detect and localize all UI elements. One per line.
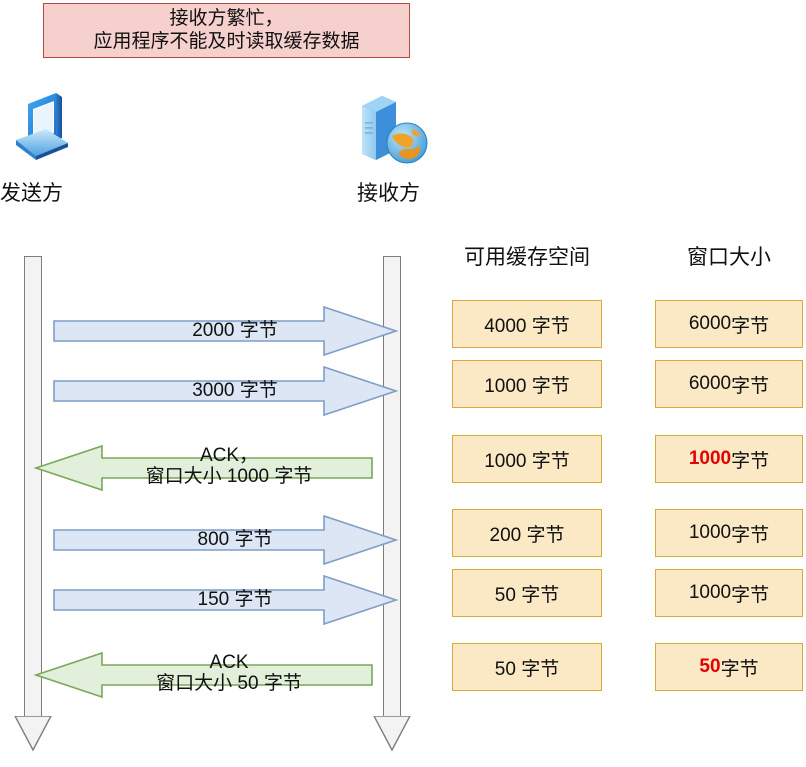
message-row: ACK， 窗口大小 1000 字节 <box>24 438 404 494</box>
window-cell: 1000 字节 <box>655 435 803 483</box>
window-cell: 1000 字节 <box>655 509 803 557</box>
buffer-cell: 4000 字节 <box>452 300 602 348</box>
message-row: 3000 字节 <box>24 363 404 419</box>
window-column-header: 窗口大小 <box>655 241 803 271</box>
data-arrow-right-icon <box>24 512 404 568</box>
window-unit: 字节 <box>731 311 769 338</box>
window-value: 50 <box>699 656 720 678</box>
data-arrow-right-icon <box>24 303 404 359</box>
buffer-cell: 1000 字节 <box>452 435 602 483</box>
window-value: 1000 <box>689 448 731 470</box>
data-arrow-right-icon <box>24 572 404 628</box>
laptop-icon <box>6 88 86 166</box>
window-cell: 6000 字节 <box>655 360 803 408</box>
window-value: 6000 <box>689 373 731 395</box>
window-value: 6000 <box>689 313 731 335</box>
buffer-cell: 200 字节 <box>452 509 602 557</box>
banner-line-1: 接收方繁忙， <box>169 8 283 30</box>
ack-arrow-left-icon <box>24 438 404 494</box>
window-cell: 50 字节 <box>655 643 803 691</box>
buffer-cell: 50 字节 <box>452 643 602 691</box>
banner-line-2: 应用程序不能及时读取缓存数据 <box>93 31 359 53</box>
busy-notice-banner: 接收方繁忙， 应用程序不能及时读取缓存数据 <box>43 3 410 58</box>
window-cell: 6000 字节 <box>655 300 803 348</box>
message-row: 2000 字节 <box>24 303 404 359</box>
data-arrow-right-icon <box>24 363 404 419</box>
window-unit: 字节 <box>721 654 759 681</box>
receiver-label: 接收方 <box>357 177 420 207</box>
buffer-cell: 1000 字节 <box>452 360 602 408</box>
buffer-column-header: 可用缓存空间 <box>452 241 602 271</box>
window-unit: 字节 <box>731 371 769 398</box>
window-unit: 字节 <box>731 446 769 473</box>
sender-timeline-arrowhead <box>13 716 53 752</box>
sender-label: 发送方 <box>0 177 63 207</box>
message-row: 800 字节 <box>24 512 404 568</box>
server-globe-icon <box>352 88 434 166</box>
window-value: 1000 <box>689 522 731 544</box>
window-unit: 字节 <box>731 520 769 547</box>
ack-arrow-left-icon <box>24 645 404 701</box>
window-cell: 1000 字节 <box>655 569 803 617</box>
buffer-cell: 50 字节 <box>452 569 602 617</box>
window-value: 1000 <box>689 582 731 604</box>
message-row: ACK 窗口大小 50 字节 <box>24 645 404 701</box>
message-row: 150 字节 <box>24 572 404 628</box>
receiver-timeline-arrowhead <box>372 716 412 752</box>
window-unit: 字节 <box>731 580 769 607</box>
